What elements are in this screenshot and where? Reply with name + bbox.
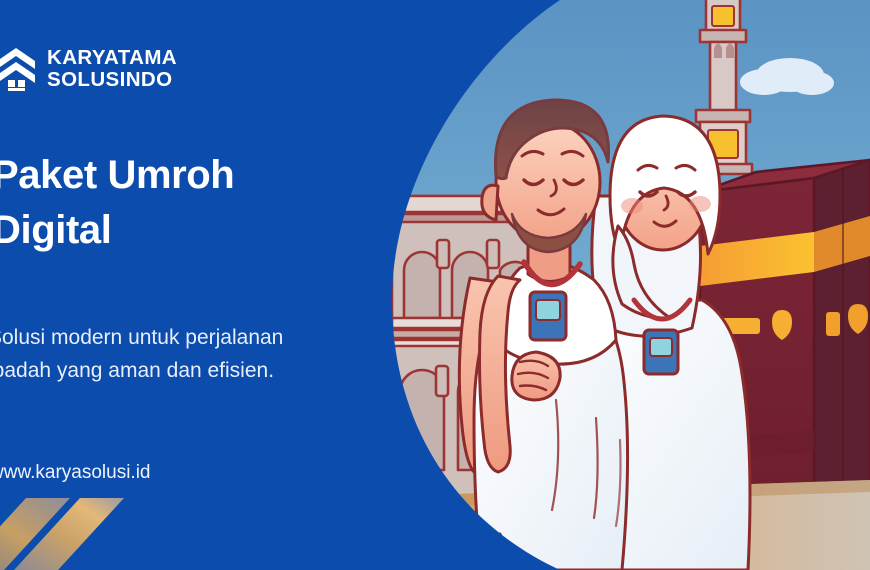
promotional-banner: KARYATAMA SOLUSINDO Paket Umroh Digital … bbox=[0, 0, 870, 570]
tagline-line-2: ibadah yang aman dan efisien. bbox=[0, 355, 283, 388]
banner-text-content: KARYATAMA SOLUSINDO Paket Umroh Digital … bbox=[0, 0, 470, 570]
brand-line-1: KARYATAMA bbox=[47, 47, 177, 69]
tagline: Solusi modern untuk perjalanan ibadah ya… bbox=[0, 322, 283, 387]
tagline-line-1: Solusi modern untuk perjalanan bbox=[0, 322, 283, 355]
karyatama-house-chevron-logo-icon bbox=[0, 47, 36, 91]
brand-logo-text: KARYATAMA SOLUSINDO bbox=[47, 47, 177, 91]
page-title: Paket Umroh Digital bbox=[0, 148, 234, 258]
brand-logo[interactable]: KARYATAMA SOLUSINDO bbox=[0, 47, 177, 91]
headline-line-2: Digital bbox=[0, 203, 234, 258]
website-url[interactable]: www.karyasolusi.id bbox=[0, 462, 151, 484]
brand-line-2: SOLUSINDO bbox=[47, 69, 177, 91]
headline-line-1: Paket Umroh bbox=[0, 148, 234, 203]
